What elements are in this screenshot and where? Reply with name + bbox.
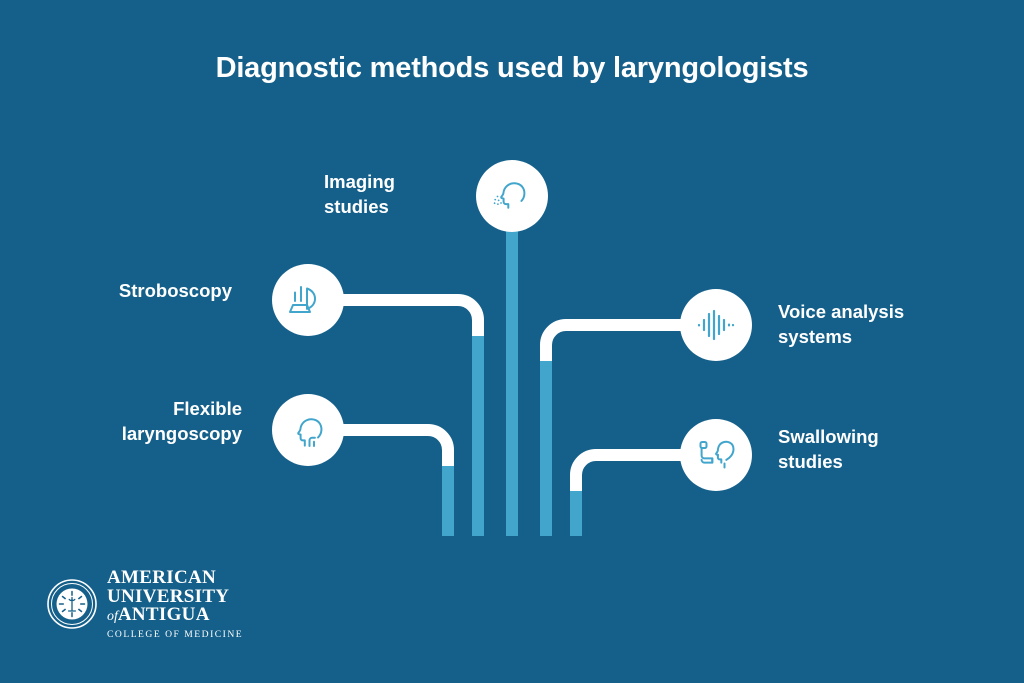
node-icon-stroboscopy[interactable]: [272, 264, 344, 336]
node-label-imaging-studies: Imaging studies: [324, 170, 494, 219]
node-label-voice-analysis-systems: Voice analysis systems: [778, 300, 1008, 349]
brand-logo: AMERICAN UNIVERSITY ofANTIGUA COLLEGE OF…: [46, 569, 243, 640]
node-icon-swallowing-studies[interactable]: [680, 419, 752, 491]
strobe-lamp-icon: [288, 280, 328, 320]
node-label-stroboscopy: Stroboscopy: [20, 279, 232, 304]
logo-line-3: ANTIGUA: [118, 604, 210, 625]
connector-stroboscopy: [340, 300, 484, 536]
logo-line-1: AMERICAN: [107, 569, 243, 588]
node-label-swallowing-studies: Swallowing studies: [778, 425, 1008, 474]
connector-imaging-studies: [506, 200, 518, 536]
connector-voice-analysis-systems: [540, 325, 684, 536]
university-seal-icon: [46, 578, 98, 630]
logo-wordmark: AMERICAN UNIVERSITY ofANTIGUA COLLEGE OF…: [107, 569, 243, 640]
node-icon-flexible-laryngoscopy[interactable]: [272, 394, 344, 466]
connector-flexible-laryngoscopy: [340, 430, 454, 536]
inhaler-face-icon: [696, 435, 736, 475]
node-label-flexible-laryngoscopy: Flexible laryngoscopy: [20, 397, 242, 446]
node-icon-voice-analysis-systems[interactable]: [680, 289, 752, 361]
connector-swallowing-studies: [570, 455, 684, 536]
logo-of: of: [107, 609, 118, 624]
waveform-icon: [696, 305, 736, 345]
infographic-canvas: Diagnostic methods used by laryngologist…: [0, 0, 1024, 683]
head-scan-icon: [492, 176, 532, 216]
logo-subtitle: COLLEGE OF MEDICINE: [107, 629, 243, 640]
head-airway-icon: [288, 410, 328, 450]
